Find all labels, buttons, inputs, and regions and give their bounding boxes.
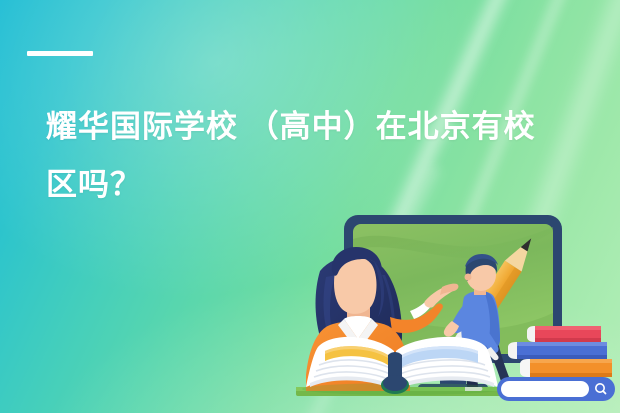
education-illustration — [292, 205, 620, 413]
search-bar — [497, 377, 615, 401]
article-cover-card: 耀华国际学校 （高中）在北京有校区吗？ — [0, 0, 620, 413]
header-accent-rule — [27, 51, 93, 56]
page-title: 耀华国际学校 （高中）在北京有校区吗？ — [46, 98, 546, 214]
